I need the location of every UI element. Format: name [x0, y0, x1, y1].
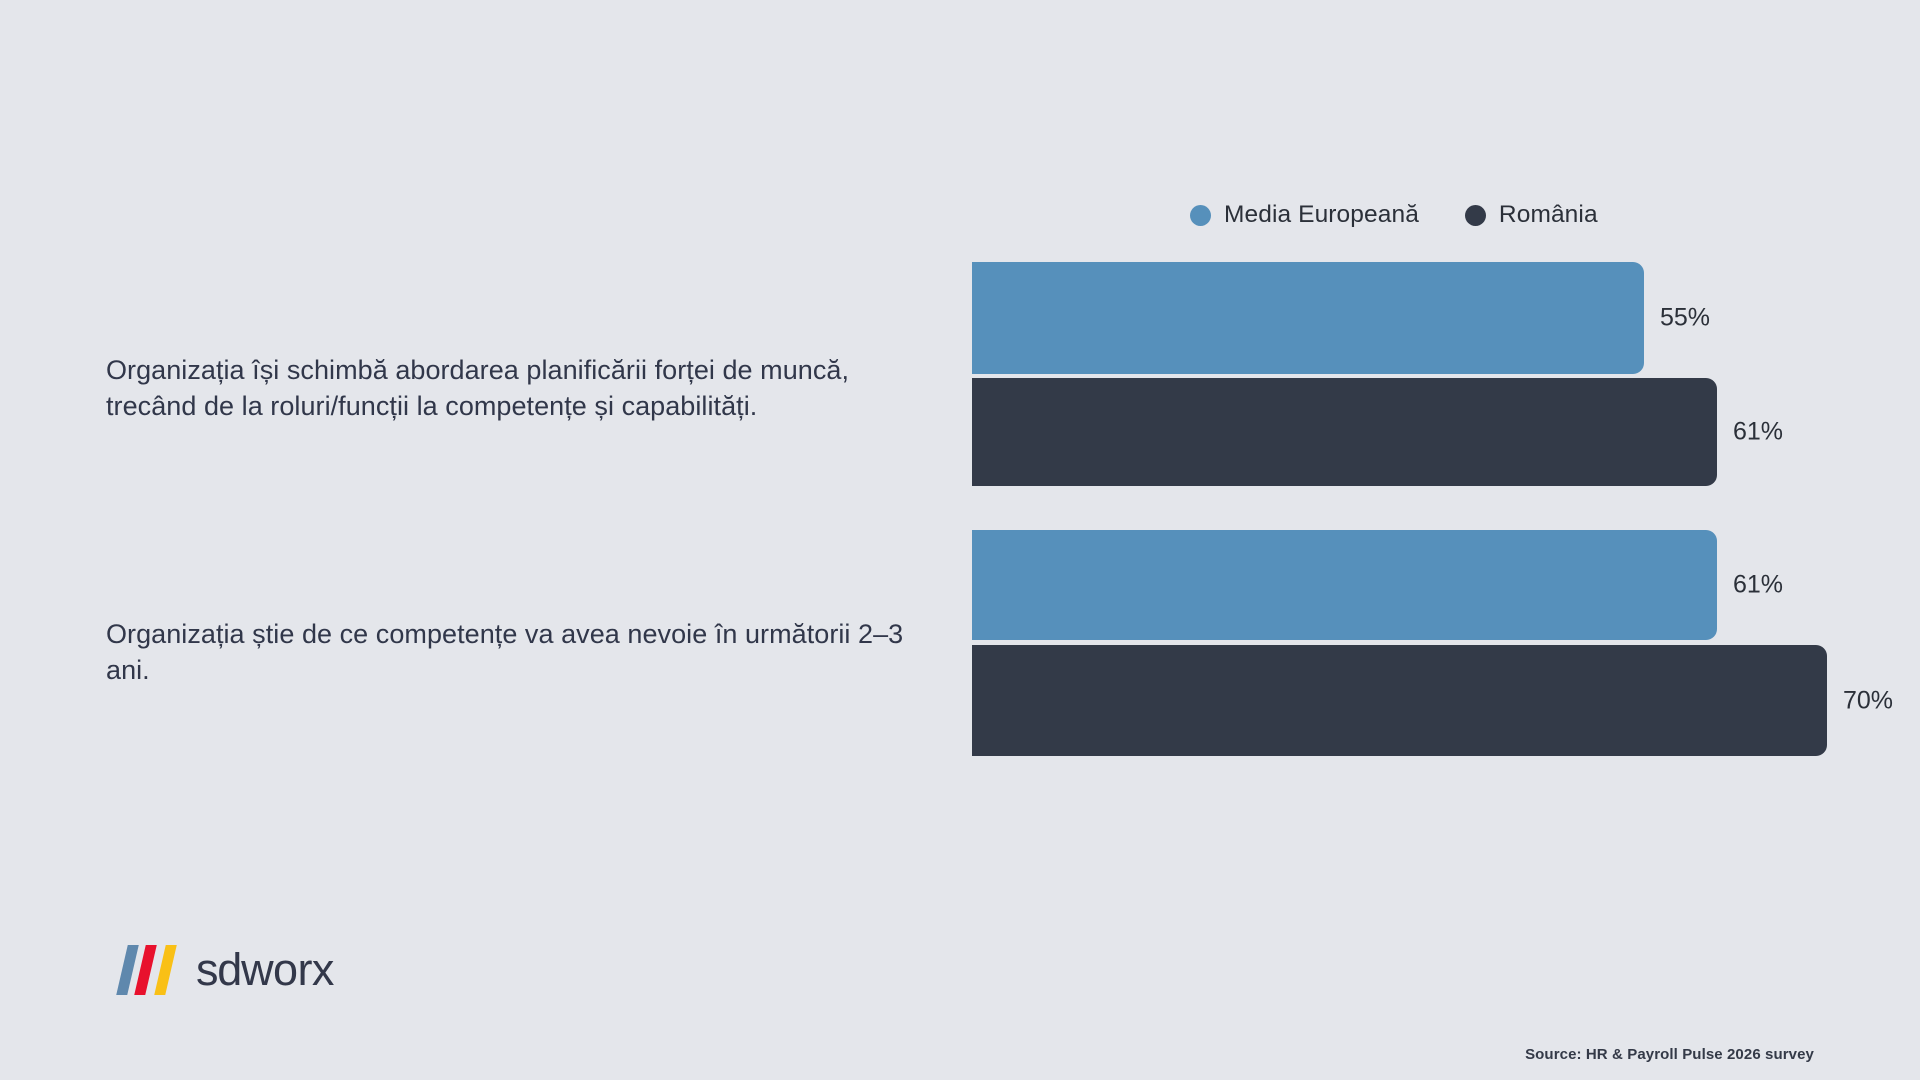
logo-wordmark-worx: worx: [241, 944, 334, 995]
bar-value-label: 61%: [1733, 571, 1783, 600]
bar-media-europeana-group-2[interactable]: [972, 530, 1717, 640]
source-note: Source: HR & Payroll Pulse 2026 survey: [1525, 1046, 1814, 1063]
category-label: Organizația își schimbă abordarea planif…: [106, 352, 936, 424]
logo-wordmark: sdworx: [196, 944, 334, 996]
bar-value-label: 55%: [1660, 304, 1710, 333]
bar-value-label: 61%: [1733, 418, 1783, 447]
legend-item-label: România: [1499, 201, 1598, 229]
circle-marker-icon: [1465, 205, 1486, 226]
bar-romania-group-2[interactable]: [972, 645, 1827, 756]
circle-marker-icon: [1190, 205, 1211, 226]
logo-bar-red: [134, 945, 157, 995]
chart-canvas: Media Europeană România Organizația își …: [0, 0, 1920, 1080]
bar-media-europeana-group-1[interactable]: [972, 262, 1644, 374]
legend-item-label: Media Europeană: [1224, 201, 1419, 229]
bar-value-label: 70%: [1843, 686, 1893, 715]
chart-legend: Media Europeană România: [1190, 200, 1598, 230]
category-label: Organizația știe de ce competențe va ave…: [106, 616, 936, 688]
legend-item-media-europeana[interactable]: Media Europeană: [1190, 201, 1419, 229]
logo-wordmark-sd: sd: [196, 944, 241, 995]
sdworx-logo-mark-icon: [120, 939, 182, 1001]
sdworx-logo: sdworx: [120, 935, 334, 1005]
logo-bar-yellow: [154, 945, 177, 995]
legend-item-romania[interactable]: România: [1465, 201, 1598, 229]
bar-romania-group-1[interactable]: [972, 378, 1717, 486]
